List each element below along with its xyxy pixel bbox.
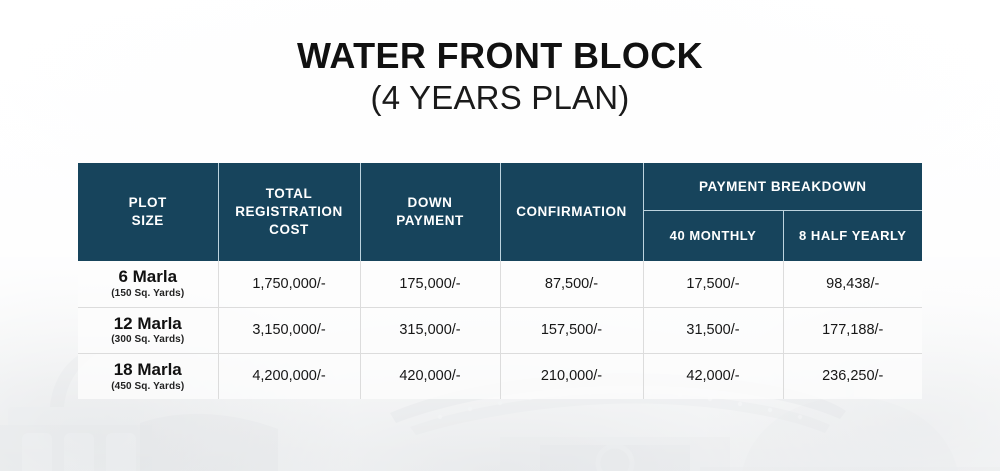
plot-size-area: (450 Sq. Yards) bbox=[78, 381, 218, 392]
cell-plot-size: 12 Marla (300 Sq. Yards) bbox=[78, 307, 218, 353]
table-row: 18 Marla (450 Sq. Yards) 4,200,000/- 420… bbox=[78, 353, 922, 399]
header-40-monthly: 40 MONTHLY bbox=[643, 210, 783, 261]
title-subtitle: (4 YEARS PLAN) bbox=[0, 78, 1000, 118]
cell-down-payment: 315,000/- bbox=[360, 307, 500, 353]
header-plot-size: PLOT SIZE bbox=[78, 163, 218, 261]
cell-plot-size: 6 Marla (150 Sq. Yards) bbox=[78, 261, 218, 307]
header-plot-size-line1: PLOT bbox=[78, 194, 218, 212]
header-trc-line3: COST bbox=[219, 221, 360, 239]
plot-size-name: 12 Marla bbox=[78, 315, 218, 334]
table-header: PLOT SIZE TOTAL REGISTRATION COST DOWN P… bbox=[78, 163, 922, 261]
header-trc-line2: REGISTRATION bbox=[219, 203, 360, 221]
cell-confirmation: 157,500/- bbox=[500, 307, 643, 353]
cell-8-half-yearly: 236,250/- bbox=[783, 353, 922, 399]
header-8-half-yearly: 8 HALF YEARLY bbox=[783, 210, 922, 261]
cell-total-registration-cost: 1,750,000/- bbox=[218, 261, 360, 307]
cell-total-registration-cost: 4,200,000/- bbox=[218, 353, 360, 399]
header-plot-size-line2: SIZE bbox=[78, 212, 218, 230]
header-down-payment: DOWN PAYMENT bbox=[360, 163, 500, 261]
header-confirmation: CONFIRMATION bbox=[500, 163, 643, 261]
header-total-registration-cost: TOTAL REGISTRATION COST bbox=[218, 163, 360, 261]
table-row: 12 Marla (300 Sq. Yards) 3,150,000/- 315… bbox=[78, 307, 922, 353]
cell-confirmation: 210,000/- bbox=[500, 353, 643, 399]
header-trc-line1: TOTAL bbox=[219, 185, 360, 203]
cell-down-payment: 175,000/- bbox=[360, 261, 500, 307]
cell-down-payment: 420,000/- bbox=[360, 353, 500, 399]
header-row-top: PLOT SIZE TOTAL REGISTRATION COST DOWN P… bbox=[78, 163, 922, 210]
plot-size-name: 6 Marla bbox=[78, 268, 218, 287]
cell-8-half-yearly: 177,188/- bbox=[783, 307, 922, 353]
payment-plan-page: WATER FRONT BLOCK (4 YEARS PLAN) PLOT SI… bbox=[0, 0, 1000, 471]
cell-40-monthly: 42,000/- bbox=[643, 353, 783, 399]
cell-total-registration-cost: 3,150,000/- bbox=[218, 307, 360, 353]
cell-plot-size: 18 Marla (450 Sq. Yards) bbox=[78, 353, 218, 399]
header-payment-breakdown: PAYMENT BREAKDOWN bbox=[643, 163, 922, 210]
plot-size-area: (300 Sq. Yards) bbox=[78, 334, 218, 345]
cell-confirmation: 87,500/- bbox=[500, 261, 643, 307]
cell-40-monthly: 31,500/- bbox=[643, 307, 783, 353]
table-body: 6 Marla (150 Sq. Yards) 1,750,000/- 175,… bbox=[78, 261, 922, 399]
title-main: WATER FRONT BLOCK bbox=[0, 36, 1000, 76]
header-down-payment-line2: PAYMENT bbox=[361, 212, 500, 230]
plot-size-area: (150 Sq. Yards) bbox=[78, 288, 218, 299]
table-row: 6 Marla (150 Sq. Yards) 1,750,000/- 175,… bbox=[78, 261, 922, 307]
plot-size-name: 18 Marla bbox=[78, 361, 218, 380]
page-title: WATER FRONT BLOCK (4 YEARS PLAN) bbox=[0, 36, 1000, 118]
cell-40-monthly: 17,500/- bbox=[643, 261, 783, 307]
header-down-payment-line1: DOWN bbox=[361, 194, 500, 212]
payment-plan-table-wrapper: PLOT SIZE TOTAL REGISTRATION COST DOWN P… bbox=[78, 163, 922, 399]
payment-plan-table: PLOT SIZE TOTAL REGISTRATION COST DOWN P… bbox=[78, 163, 922, 399]
cell-8-half-yearly: 98,438/- bbox=[783, 261, 922, 307]
